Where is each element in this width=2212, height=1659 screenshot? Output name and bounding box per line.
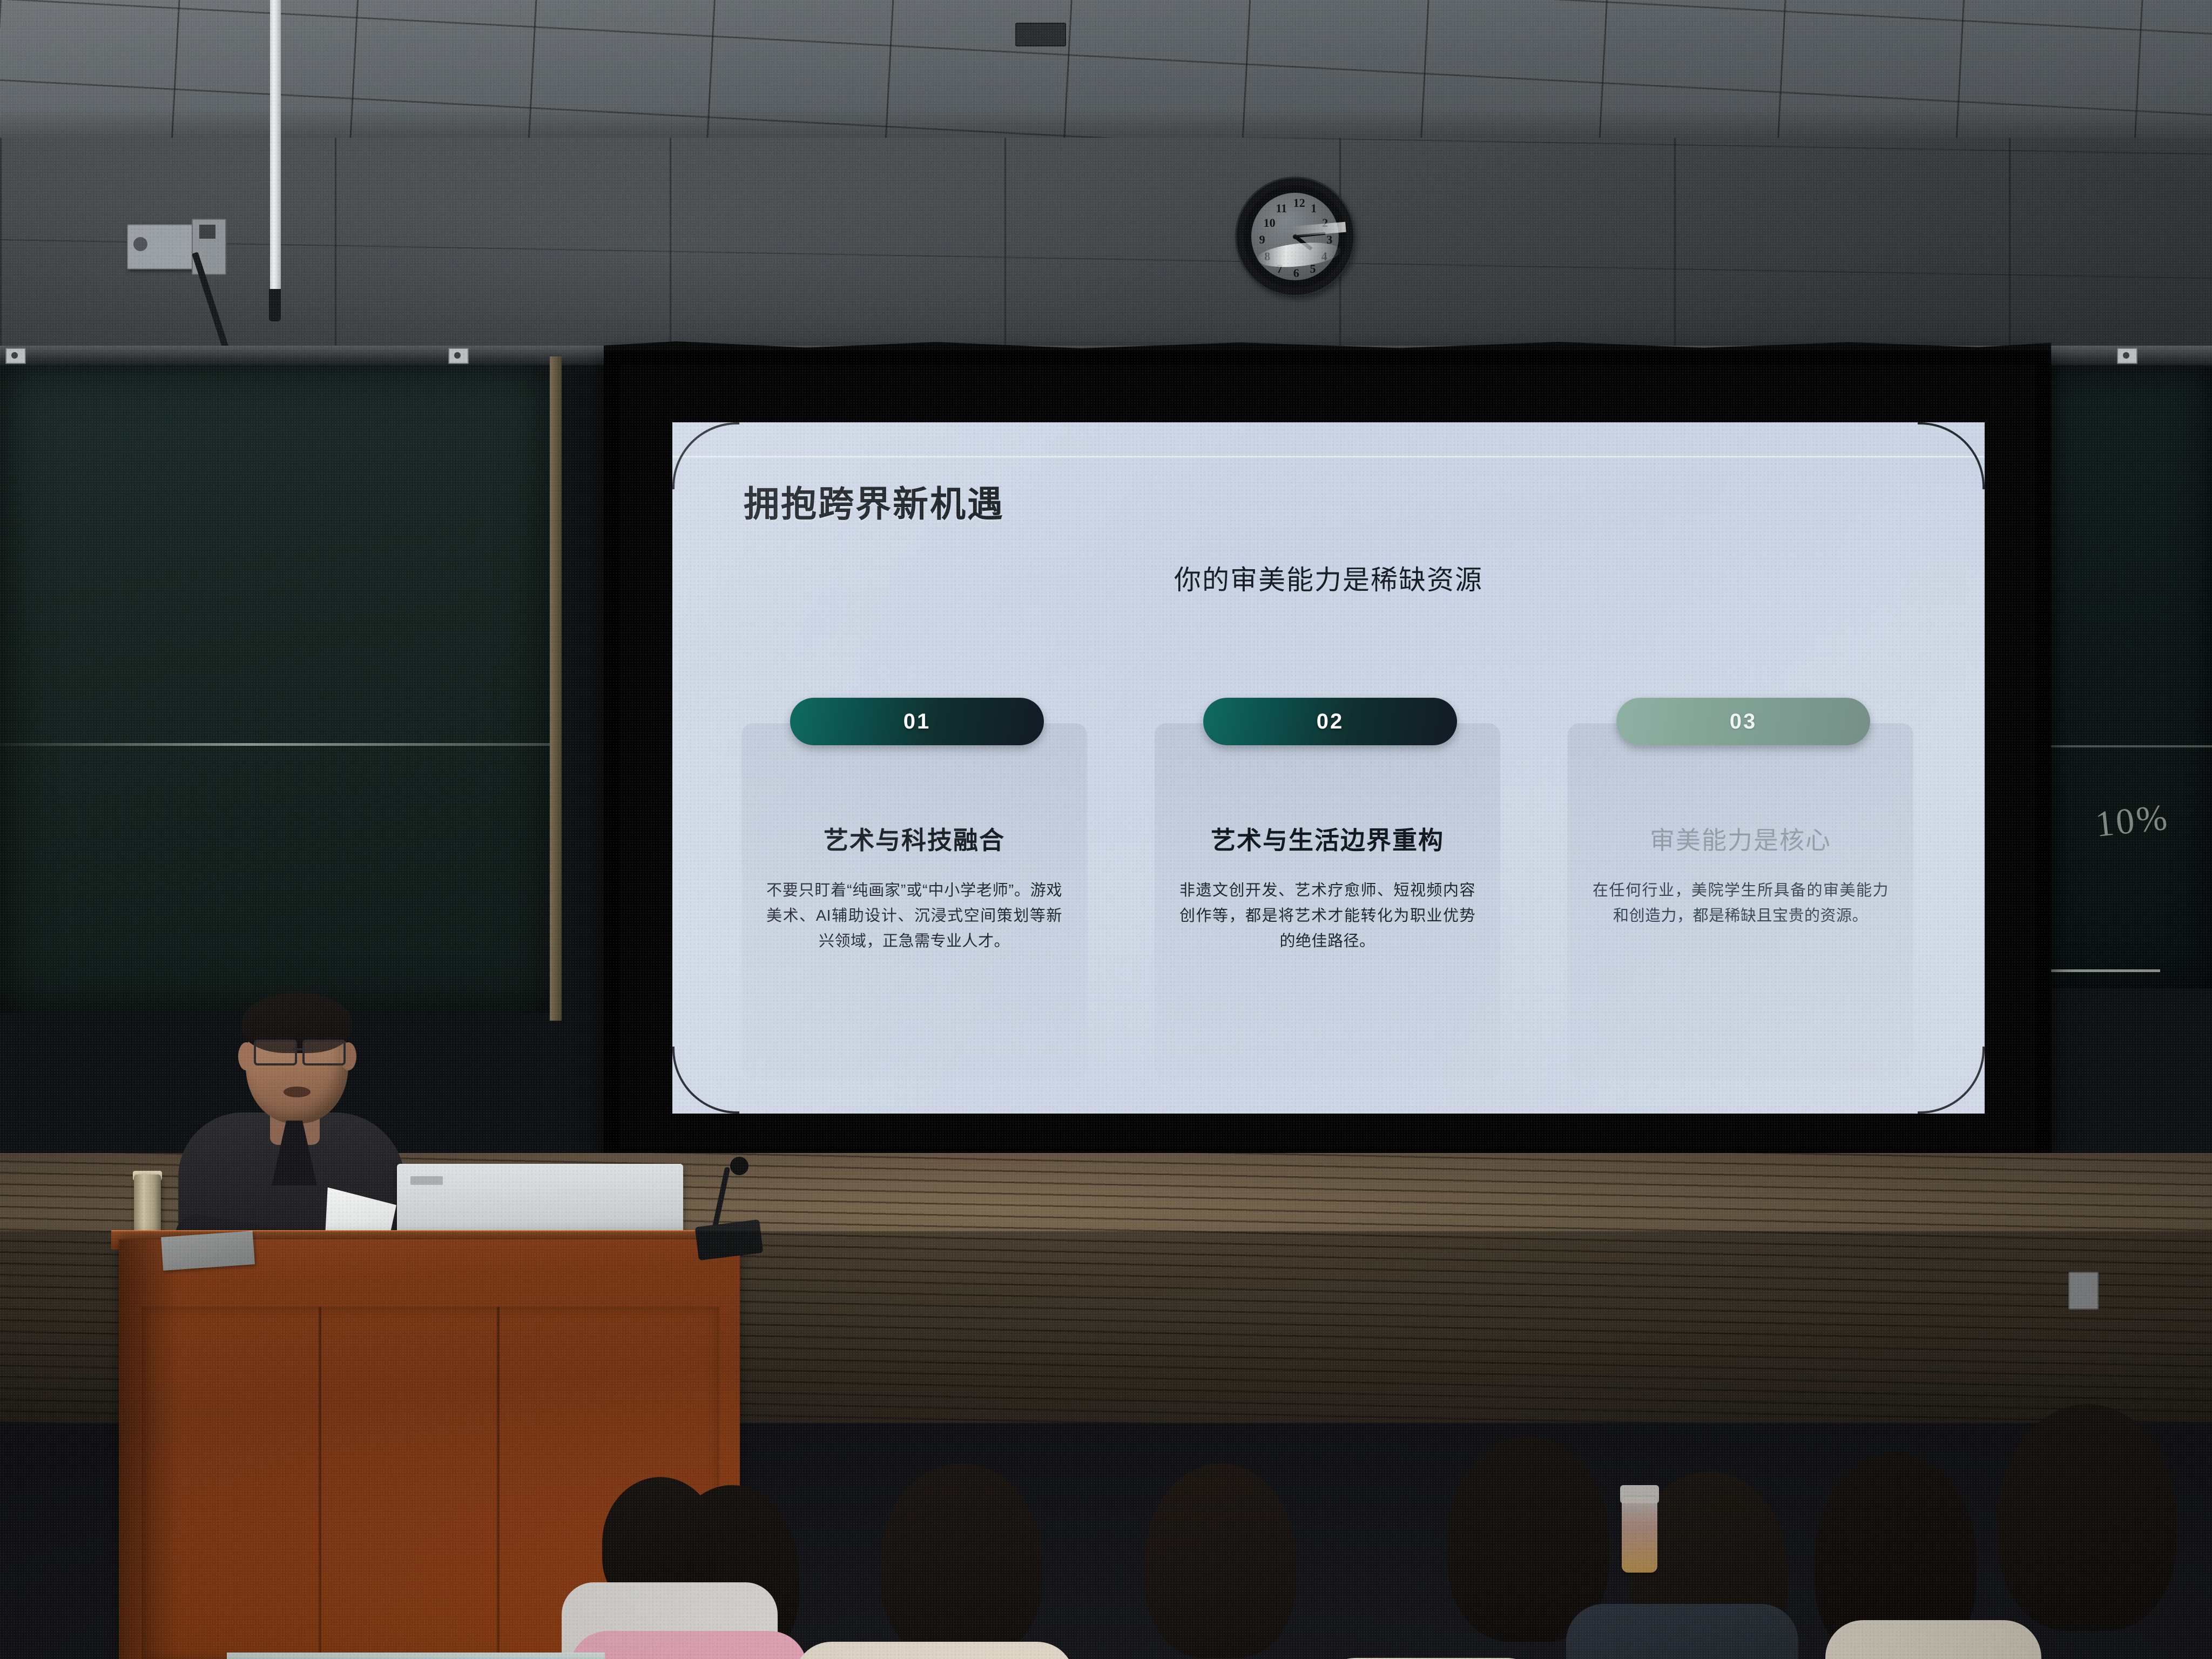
clock-numeral-1: 1 — [1311, 203, 1317, 214]
corner-arc-bottom-left — [672, 1047, 739, 1114]
audience-head — [880, 1464, 1042, 1658]
card-text-03: 在任何行业，美院学生所具备的审美能力和创造力，都是稀缺且宝贵的资源。 — [1593, 878, 1889, 929]
card-body-01: 艺术与科技融合 不要只盯着“纯画家”或“中小学老师”。游戏美术、AI辅助设计、沉… — [741, 723, 1087, 1079]
corner-arc-top-left — [672, 422, 739, 489]
slide-card-01[interactable]: 01 艺术与科技融合 不要只盯着“纯画家”或“中小学老师”。游戏美术、AI辅助设… — [741, 698, 1087, 1079]
audience-dark-jacket — [1566, 1604, 1798, 1659]
blackboard-left-frame — [550, 356, 562, 1021]
rail-clip — [5, 348, 26, 364]
slide-card-02[interactable]: 02 艺术与生活边界重构 非遗文创开发、艺术疗愈师、短视频内容创作等，都是将艺术… — [1155, 698, 1500, 1079]
clock-numeral-12: 12 — [1293, 197, 1305, 209]
audience — [0, 1231, 2212, 1659]
ceiling-vent — [1015, 23, 1066, 46]
card-number-label: 03 — [1730, 710, 1757, 734]
blackboard-right-divider — [2023, 745, 2212, 747]
clock-numeral-11: 11 — [1276, 203, 1287, 214]
clock-numeral-9: 9 — [1259, 234, 1265, 246]
card-number-pill-03: 03 — [1616, 698, 1870, 745]
slide-card-03[interactable]: 03 审美能力是核心 在任何行业，美院学生所具备的审美能力和创造力，都是稀缺且宝… — [1568, 698, 1913, 1079]
card-body-02: 艺术与生活边界重构 非遗文创开发、艺术疗愈师、短视频内容创作等，都是将艺术才能转… — [1155, 723, 1500, 1079]
card-number-label: 01 — [903, 710, 931, 734]
audience-pink-hoodie — [570, 1631, 807, 1659]
card-text-02: 非遗文创开发、艺术疗愈师、短视频内容创作等，都是将艺术才能转化为职业优势的绝佳路… — [1179, 878, 1475, 954]
projector-scanline — [672, 456, 1985, 457]
card-text-01: 不要只盯着“纯画家”或“中小学老师”。游戏美术、AI辅助设计、沉浸式空间策划等新… — [766, 878, 1062, 954]
upper-concrete-wall — [0, 138, 2212, 365]
water-bottle — [1622, 1497, 1657, 1573]
audience-cream-jacket — [794, 1642, 1075, 1659]
presenter-mouth — [284, 1087, 311, 1097]
card-number-pill-02: 02 — [1203, 698, 1457, 745]
presenter-glasses-left-lens — [254, 1040, 297, 1065]
slide-title: 拥抱跨界新机遇 — [744, 475, 1004, 527]
card-number-label: 02 — [1317, 710, 1344, 734]
audience-light-jacket — [1825, 1620, 2041, 1659]
projector-pole-bracket — [269, 289, 281, 321]
blackboard-right-chalk-tray — [2047, 969, 2160, 972]
electrical-outlet-box — [127, 224, 194, 269]
front-desk-edge — [227, 1653, 605, 1659]
wall-clock: 12 1 2 3 4 5 6 7 8 9 10 11 — [1237, 178, 1353, 295]
laptop-logo — [410, 1176, 443, 1185]
presentation-slide[interactable]: 拥抱跨界新机遇 你的审美能力是稀缺资源 01 艺术与科技融合 不要只盯着“纯画家… — [672, 422, 1985, 1114]
wall-vignette — [0, 138, 2212, 365]
clock-numeral-10: 10 — [1264, 217, 1276, 229]
microphone-head — [730, 1157, 748, 1175]
slide-subtitle: 你的审美能力是稀缺资源 — [672, 558, 1985, 597]
audience-head — [1145, 1464, 1296, 1658]
slide-card-row: 01 艺术与科技融合 不要只盯着“纯画家”或“中小学老师”。游戏美术、AI辅助设… — [741, 698, 1913, 1079]
corner-arc-bottom-right — [1918, 1047, 1985, 1114]
card-title-01: 艺术与科技融合 — [741, 821, 1087, 857]
rail-clip — [448, 348, 469, 364]
blackboard-chalk-smudge — [0, 743, 551, 746]
rail-clip — [2117, 348, 2137, 364]
clock-numeral-6: 6 — [1293, 267, 1299, 279]
card-title-02: 艺术与生活边界重构 — [1155, 821, 1500, 857]
clock-face: 12 1 2 3 4 5 6 7 8 9 10 11 — [1251, 193, 1339, 280]
card-number-pill-01: 01 — [790, 698, 1044, 745]
presenter-glasses-right-lens — [302, 1040, 346, 1065]
audience-head — [1998, 1404, 2176, 1631]
card-title-03: 审美能力是核心 — [1568, 821, 1913, 857]
projector-mount-pole — [270, 0, 281, 302]
blackboard-left — [0, 365, 551, 1013]
chalk-writing-percentage: 10% — [2093, 795, 2171, 846]
presenter-glasses-bridge — [292, 1048, 304, 1050]
corner-arc-top-right — [1918, 422, 1985, 489]
lecture-hall-photo: 12 1 2 3 4 5 6 7 8 9 10 11 10% — [0, 0, 2212, 1659]
clock-glass-glare — [1256, 239, 1341, 271]
presenter-ear-left — [238, 1042, 254, 1070]
card-body-03: 审美能力是核心 在任何行业，美院学生所具备的审美能力和创造力，都是稀缺且宝贵的资… — [1568, 723, 1913, 1079]
